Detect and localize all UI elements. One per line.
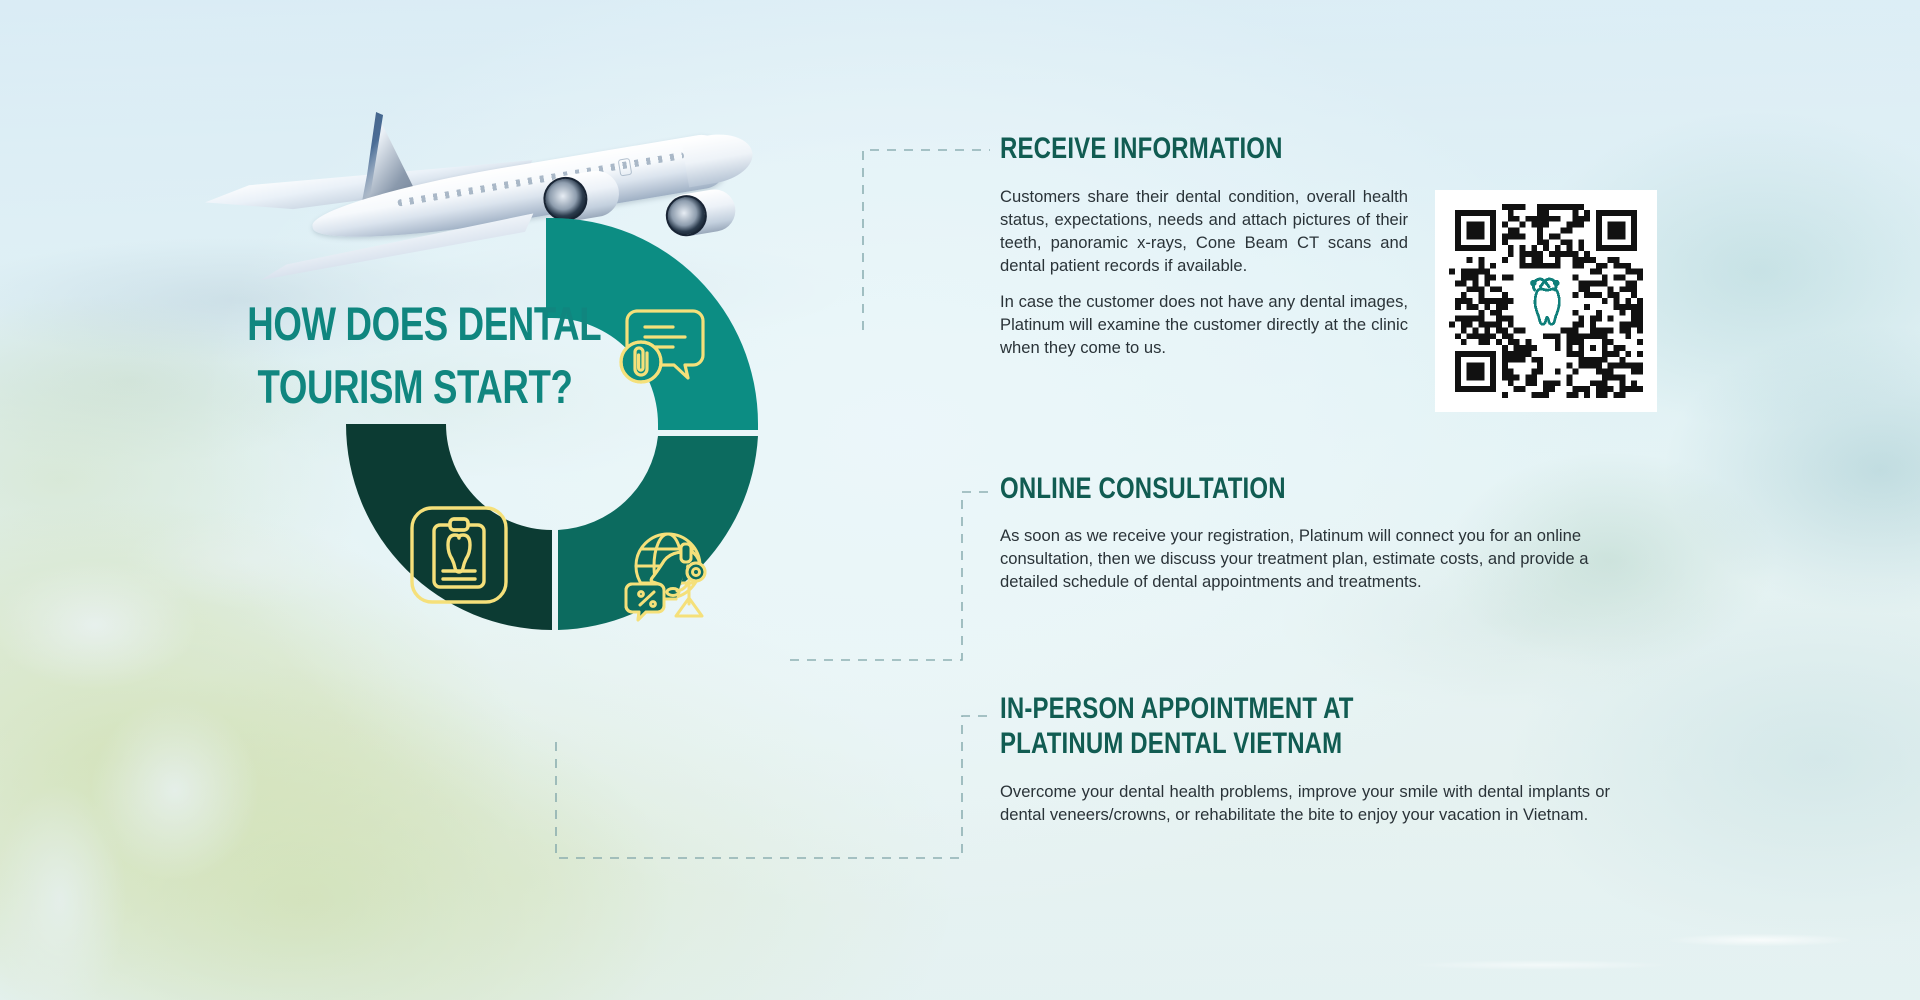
page-title-line-2: TOURISM START? (247, 355, 582, 418)
process-donut-diagram (340, 212, 764, 636)
section-3-title: IN-PERSON APPOINTMENT AT PLATINUM DENTAL… (1000, 692, 1488, 762)
section-1-title: RECEIVE INFORMATION (1000, 132, 1326, 167)
section-2-title-line-1: ONLINE CONSULTATION (1000, 472, 1488, 507)
section-1-paragraph-2: In case the customer does not have any d… (1000, 290, 1408, 359)
page-title: HOW DOES DENTAL TOURISM START? (247, 292, 582, 419)
tooth-logo (1521, 275, 1568, 326)
section-2-paragraph-1: As soon as we receive your registration,… (1000, 524, 1610, 593)
section-online-consultation: ONLINE CONSULTATION As soon as we receiv… (1000, 472, 1610, 593)
section-2-title: ONLINE CONSULTATION (1000, 472, 1488, 507)
section-receive-information: RECEIVE INFORMATION Customers share thei… (1000, 132, 1408, 359)
section-3-title-line-2: PLATINUM DENTAL VIETNAM (1000, 727, 1488, 762)
qr-code[interactable] (1435, 190, 1657, 412)
section-1-title-line-1: RECEIVE INFORMATION (1000, 132, 1326, 167)
section-in-person-appointment: IN-PERSON APPOINTMENT AT PLATINUM DENTAL… (1000, 692, 1610, 826)
qr-code-image (1449, 204, 1643, 398)
page-title-line-1: HOW DOES DENTAL (247, 292, 582, 355)
section-3-paragraph-1: Overcome your dental health problems, im… (1000, 780, 1610, 826)
airplane-door (618, 158, 633, 177)
section-1-paragraph-1: Customers share their dental condition, … (1000, 185, 1408, 277)
infographic-canvas: HOW DOES DENTAL TOURISM START? RECEIVE I… (0, 0, 1920, 1000)
section-3-title-line-1: IN-PERSON APPOINTMENT AT (1000, 692, 1488, 727)
